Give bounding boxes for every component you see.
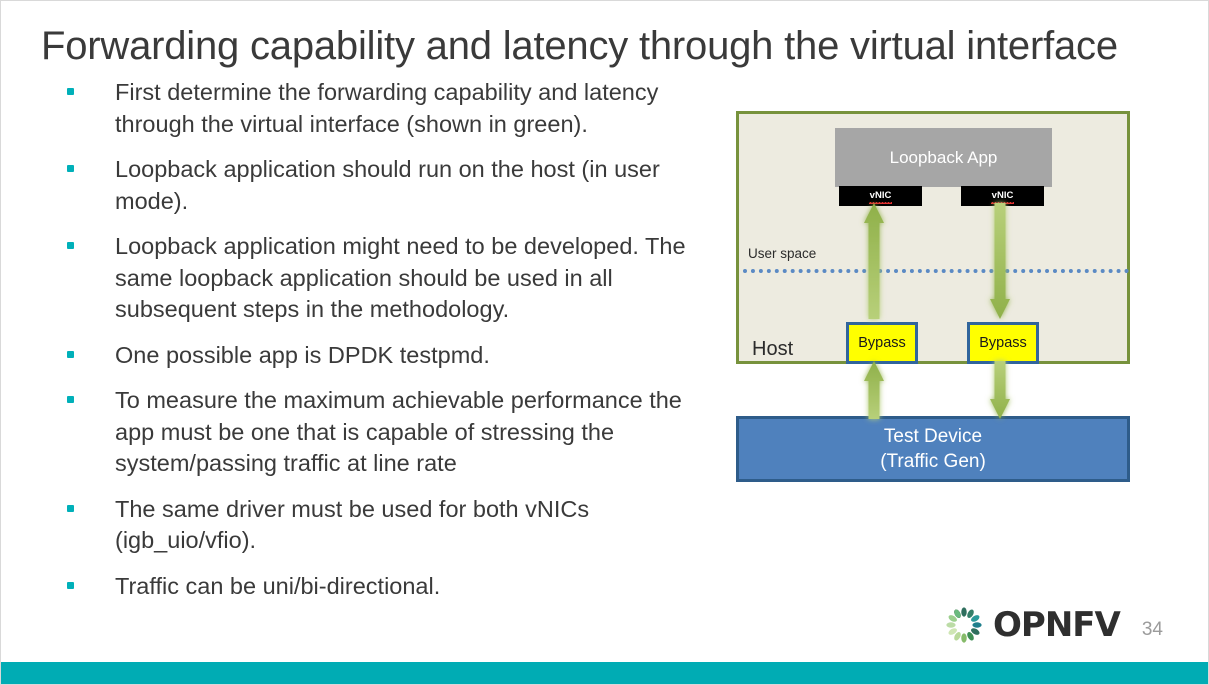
vnic-left-label: vNIC [870, 191, 892, 201]
vnic-left-box: vNIC [839, 186, 922, 206]
bullet-text: The same driver must be used for both vN… [115, 496, 589, 554]
slide-title: Forwarding capability and latency throug… [41, 21, 1151, 71]
bullet-list: First determine the forwarding capabilit… [61, 77, 721, 616]
opnfv-wordmark: OPNFV [993, 605, 1120, 645]
bullet-item: Traffic can be uni/bi-directional. [61, 571, 721, 603]
arrow-up-testdevice-icon [864, 361, 884, 419]
bullet-marker-icon [67, 242, 74, 249]
bullet-text: Loopback application might need to be de… [115, 233, 686, 322]
test-device-line1: Test Device [884, 424, 982, 449]
bypass-left-box: Bypass [846, 322, 918, 364]
bullet-marker-icon [67, 396, 74, 403]
vnic-right-label: vNIC [992, 191, 1014, 201]
opnfv-logo-icon [941, 604, 987, 646]
bullet-item: Loopback application should run on the h… [61, 154, 721, 217]
bullet-text: Loopback application should run on the h… [115, 156, 660, 214]
bullet-text: Traffic can be uni/bi-directional. [115, 573, 440, 599]
bullet-text: First determine the forwarding capabilit… [115, 79, 658, 137]
host-label: Host [752, 338, 793, 361]
user-space-label: User space [748, 246, 816, 261]
architecture-diagram: User space Host Loopback App vNIC vNIC B… [736, 111, 1134, 481]
test-device-box: Test Device (Traffic Gen) [736, 416, 1130, 482]
presentation-slide: Forwarding capability and latency throug… [0, 0, 1209, 685]
bullet-item: First determine the forwarding capabilit… [61, 77, 721, 140]
bullet-marker-icon [67, 165, 74, 172]
bullet-marker-icon [67, 351, 74, 358]
bullet-marker-icon [67, 582, 74, 589]
vnic-right-box: vNIC [961, 186, 1044, 206]
bullet-item: Loopback application might need to be de… [61, 231, 721, 326]
bullet-text: To measure the maximum achievable perfor… [115, 387, 682, 476]
loopback-app-box: Loopback App [835, 128, 1052, 187]
host-container: User space Host Loopback App vNIC vNIC B… [736, 111, 1130, 364]
bottom-accent-bar [1, 662, 1208, 684]
bullet-item: One possible app is DPDK testpmd. [61, 340, 721, 372]
test-device-line2: (Traffic Gen) [880, 449, 986, 474]
bullet-text: One possible app is DPDK testpmd. [115, 342, 490, 368]
user-space-divider [743, 269, 1129, 273]
bullet-item: The same driver must be used for both vN… [61, 494, 721, 557]
bullet-marker-icon [67, 88, 74, 95]
bullet-marker-icon [67, 505, 74, 512]
bypass-right-box: Bypass [967, 322, 1039, 364]
page-number: 34 [1142, 619, 1163, 641]
arrow-down-testdevice-icon [990, 361, 1010, 419]
footer-branding: OPNFV 34 [941, 604, 1163, 646]
bullet-item: To measure the maximum achievable perfor… [61, 385, 721, 480]
